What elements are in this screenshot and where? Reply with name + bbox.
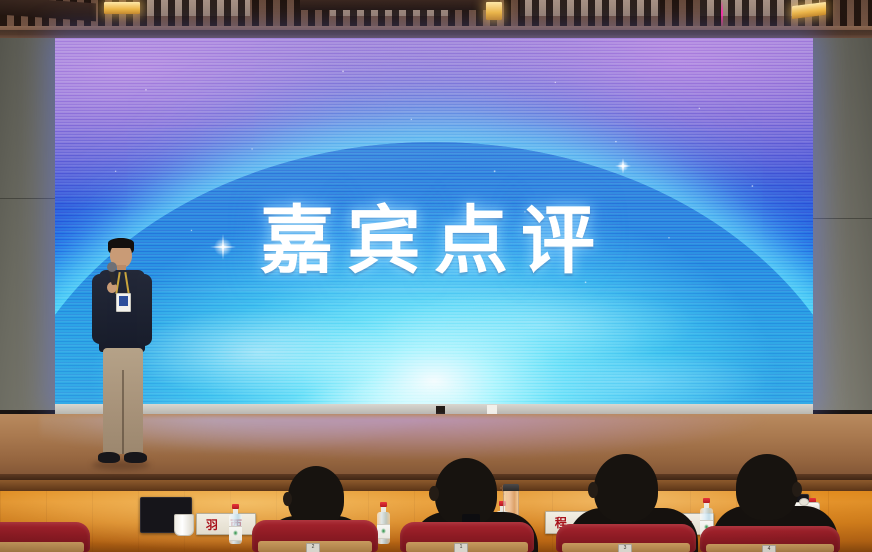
wall-seam-right — [812, 218, 872, 219]
wall-panel-left — [0, 38, 58, 410]
teacup-knob — [799, 498, 809, 506]
conference-hall-photo: 嘉宾点评 羽 西 程 史 水 — [0, 0, 872, 552]
attendee-1-ear — [283, 492, 292, 506]
water-bottle-2 — [377, 502, 390, 544]
audience-seat-partial-left-wood — [0, 542, 84, 552]
water-bottle-1 — [229, 504, 242, 544]
ceiling-downlight-2 — [486, 2, 502, 20]
presenter-shoe-right — [124, 452, 147, 463]
wall-seam-left — [0, 198, 58, 199]
attendee-4-ear — [792, 482, 802, 497]
laser-accent-line — [721, 0, 723, 26]
thermos-cap — [503, 484, 519, 491]
ceiling-downlight-1 — [104, 2, 140, 14]
presenter-hair-top — [108, 238, 134, 248]
presenter-arm-right — [92, 274, 107, 344]
led-scanlines-secondary — [55, 38, 813, 408]
led-video-wall: 嘉宾点评 — [55, 38, 813, 408]
attendee-3-ear — [588, 482, 598, 498]
floor-socket — [436, 406, 445, 414]
attendee-2-ear — [429, 486, 439, 501]
name-placard-left: 羽 西 — [196, 513, 256, 535]
audience-seat-4-number: 4 — [762, 545, 776, 552]
attendee-3-head — [594, 454, 658, 522]
microphone-head — [107, 262, 117, 272]
presenter-arm-left — [137, 274, 152, 346]
attendee-1-head — [288, 466, 344, 528]
desk-small-cup — [174, 514, 194, 536]
presenter-shoe-left — [98, 452, 120, 463]
audience-seat-3-number: 3 — [618, 544, 632, 552]
wall-panel-right — [812, 38, 872, 410]
audience-seat-2-number: 1 — [454, 543, 468, 552]
presenter-leg-split — [122, 370, 124, 454]
ceiling-coffer-center — [300, 0, 500, 10]
attendee-4-head — [736, 454, 798, 520]
bottle-label — [229, 526, 242, 541]
presenter — [86, 238, 160, 474]
presenter-badge — [116, 293, 131, 312]
audience-seat-1-number: 2 — [306, 543, 320, 552]
bottle-label — [377, 524, 390, 539]
